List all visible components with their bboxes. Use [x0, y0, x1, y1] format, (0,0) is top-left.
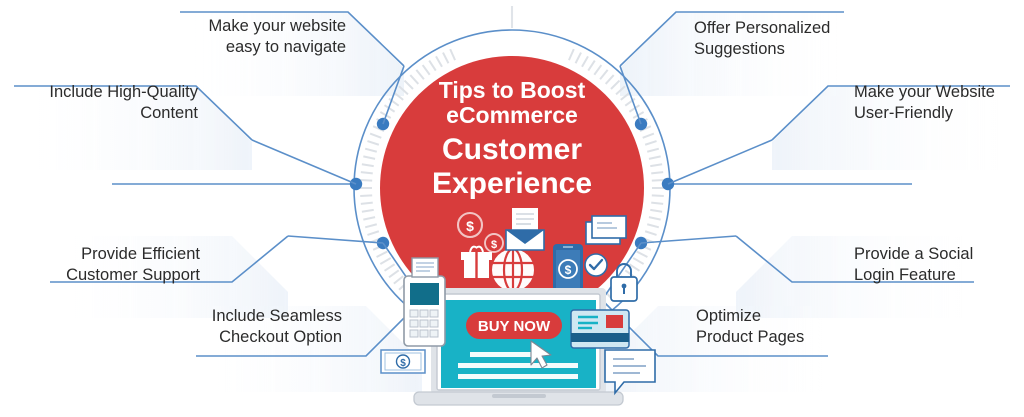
central-red-circle: [380, 56, 644, 320]
laptop-illustration: [414, 288, 623, 405]
dollar-coin-large-icon: $: [458, 213, 482, 237]
tip-label-content: Include High-Quality Content: [28, 82, 198, 124]
envelope-document-icon: [506, 208, 544, 250]
buy-now-button[interactable]: [466, 312, 562, 339]
svg-text:Tips to Boost: Tips to Boost: [439, 77, 586, 103]
svg-text:$: $: [400, 358, 406, 369]
node-friendly: [662, 178, 674, 190]
connector-node-tails: [252, 66, 772, 300]
stacked-cards-icon: [586, 216, 626, 244]
svg-text:$: $: [466, 218, 474, 234]
node-social: [635, 237, 647, 249]
banknote-icon: $: [381, 350, 425, 373]
svg-text:Customer: Customer: [442, 133, 582, 166]
outer-arc: [354, 30, 670, 346]
svg-text:$: $: [491, 239, 497, 251]
tip-label-suggest: Offer Personalized Suggestions: [694, 18, 874, 60]
illustration-layer: $ $: [0, 0, 1024, 412]
svg-text:$: $: [565, 263, 572, 277]
tick-ring-marks: [360, 49, 664, 327]
tip-label-product: Optimize Product Pages: [696, 306, 876, 348]
connector-lines: [14, 12, 1010, 356]
node-support: [377, 237, 389, 249]
tip-label-social: Provide a Social Login Feature: [854, 244, 1024, 286]
tip-label-checkout: Include Seamless Checkout Option: [194, 306, 342, 348]
infographic-svg: $ $: [0, 0, 1024, 412]
globe-icon: [492, 249, 534, 291]
padlock-icon: [611, 264, 637, 301]
check-circle-icon: [585, 254, 607, 276]
icon-cluster: $ $: [458, 208, 637, 301]
cursor-arrow-icon: [531, 341, 551, 368]
chat-bubble-icon: [605, 350, 655, 393]
gift-box-icon: [461, 247, 492, 278]
smartphone-payment-icon: $: [553, 244, 583, 298]
svg-text:Experience: Experience: [432, 167, 592, 200]
pos-terminal-icon: [404, 258, 445, 346]
connector-nodes: [350, 118, 674, 249]
svg-text:eCommerce: eCommerce: [446, 102, 578, 128]
node-suggest: [635, 118, 647, 130]
credit-card-icon: [571, 310, 629, 348]
dollar-coin-small-icon: $: [485, 234, 503, 252]
node-content: [350, 178, 362, 190]
central-title: Tips to Boost eCommerce Customer Experie…: [432, 77, 592, 200]
tip-label-navigate: Make your website easy to navigate: [196, 16, 346, 58]
node-navigate: [377, 118, 389, 130]
tip-label-friendly: Make your Website User-Friendly: [854, 82, 1024, 124]
laptop-screen: [441, 300, 596, 388]
infographic-root: $ $: [0, 0, 1024, 412]
tip-label-support: Provide Efficient Customer Support: [48, 244, 200, 286]
buy-now-label: BUY NOW: [478, 318, 551, 335]
